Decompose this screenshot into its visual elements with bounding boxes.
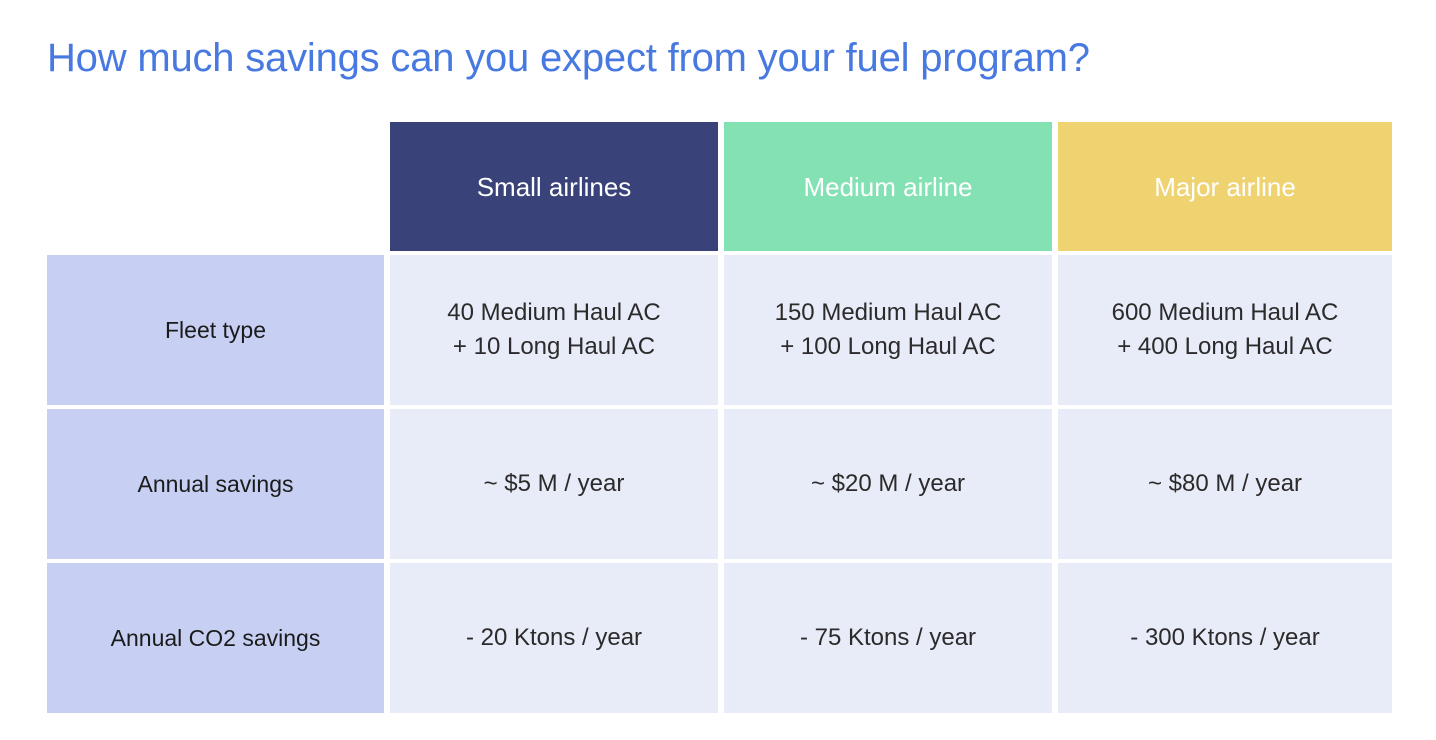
row-label-annual-savings: Annual savings: [47, 409, 384, 559]
cell-line-1: - 300 Ktons / year: [1130, 621, 1319, 655]
cell-fleet-type-small: 40 Medium Haul AC + 10 Long Haul AC: [390, 255, 718, 405]
column-header-medium-airline: Medium airline: [724, 122, 1052, 251]
cell-line-1: 150 Medium Haul AC: [775, 296, 1002, 330]
cell-line-1: ~ $80 M / year: [1148, 467, 1302, 501]
cell-line-1: 40 Medium Haul AC: [447, 296, 660, 330]
page-title: How much savings can you expect from you…: [47, 33, 1347, 83]
savings-comparison-table: Small airlines Medium airline Major airl…: [47, 122, 1392, 713]
cell-line-2: + 10 Long Haul AC: [447, 330, 660, 364]
cell-line-1: 600 Medium Haul AC: [1112, 296, 1339, 330]
cell-line-1: - 75 Ktons / year: [800, 621, 976, 655]
cell-annual-savings-major: ~ $80 M / year: [1058, 409, 1392, 559]
cell-line-1: ~ $20 M / year: [811, 467, 965, 501]
cell-line-1: ~ $5 M / year: [484, 467, 625, 501]
cell-annual-co2-savings-major: - 300 Ktons / year: [1058, 563, 1392, 713]
table-corner-cell: [47, 122, 384, 251]
row-label-fleet-type: Fleet type: [47, 255, 384, 405]
cell-annual-savings-small: ~ $5 M / year: [390, 409, 718, 559]
row-label-annual-co2-savings: Annual CO2 savings: [47, 563, 384, 713]
cell-fleet-type-major: 600 Medium Haul AC + 400 Long Haul AC: [1058, 255, 1392, 405]
cell-annual-co2-savings-medium: - 75 Ktons / year: [724, 563, 1052, 713]
table-row: Annual savings ~ $5 M / year ~ $20 M / y…: [47, 409, 1392, 559]
cell-line-1: - 20 Ktons / year: [466, 621, 642, 655]
cell-fleet-type-medium: 150 Medium Haul AC + 100 Long Haul AC: [724, 255, 1052, 405]
table-header-row: Small airlines Medium airline Major airl…: [47, 122, 1392, 251]
table-row: Annual CO2 savings - 20 Ktons / year - 7…: [47, 563, 1392, 713]
cell-annual-co2-savings-small: - 20 Ktons / year: [390, 563, 718, 713]
table-row: Fleet type 40 Medium Haul AC + 10 Long H…: [47, 255, 1392, 405]
cell-line-2: + 400 Long Haul AC: [1112, 330, 1339, 364]
cell-annual-savings-medium: ~ $20 M / year: [724, 409, 1052, 559]
cell-line-2: + 100 Long Haul AC: [775, 330, 1002, 364]
column-header-major-airline: Major airline: [1058, 122, 1392, 251]
column-header-small-airlines: Small airlines: [390, 122, 718, 251]
